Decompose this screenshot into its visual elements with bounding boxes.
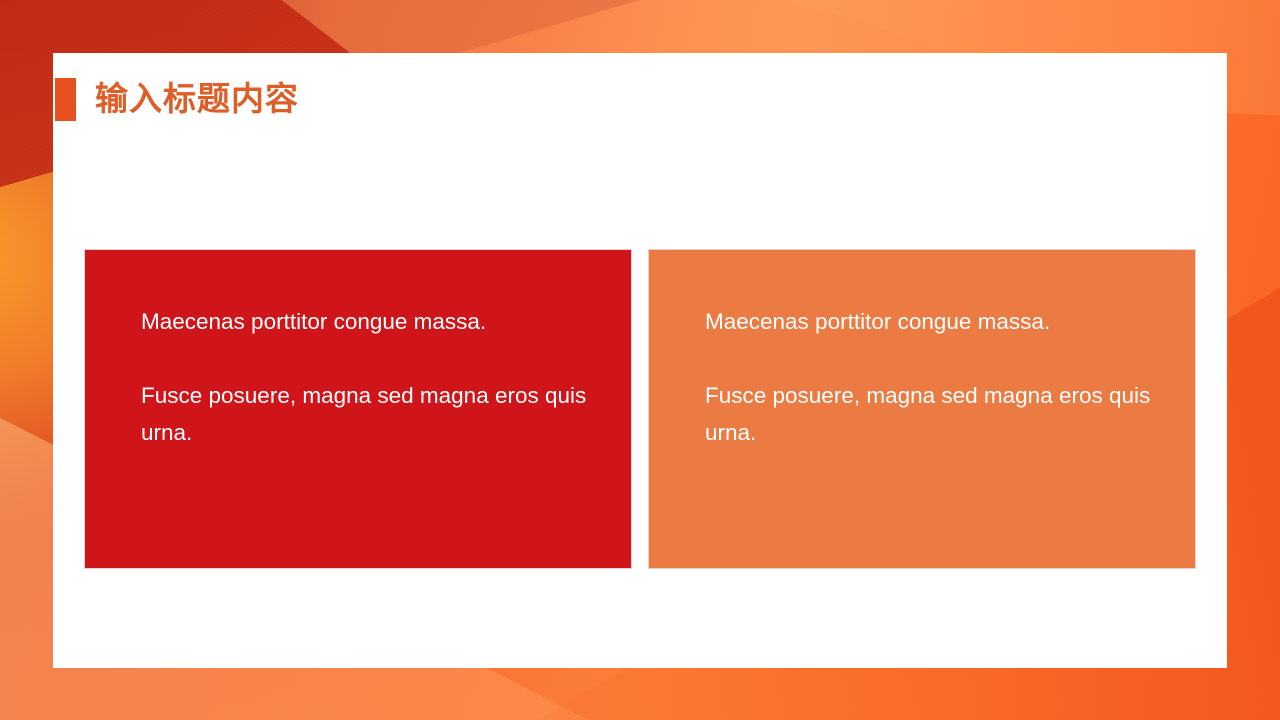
orange-panel-line-2: Fusce posuere, magna sed magna eros quis… <box>705 377 1173 451</box>
red-panel-line-2: Fusce posuere, magna sed magna eros quis… <box>141 377 609 451</box>
orange-panel-body: Maecenas porttitor congue massa. Fusce p… <box>705 303 1173 451</box>
content-panel-group: Maecenas porttitor congue massa. Fusce p… <box>84 249 1196 569</box>
red-content-panel[interactable]: Maecenas porttitor congue massa. Fusce p… <box>84 249 632 569</box>
slide-content-card: 输入标题内容 Maecenas porttitor congue massa. … <box>53 53 1227 668</box>
orange-content-panel[interactable]: Maecenas porttitor congue massa. Fusce p… <box>648 249 1196 569</box>
presentation-slide: 输入标题内容 Maecenas porttitor congue massa. … <box>0 0 1280 720</box>
orange-panel-line-1: Maecenas porttitor congue massa. <box>705 303 1173 340</box>
red-panel-line-1: Maecenas porttitor congue massa. <box>141 303 609 340</box>
page-title: 输入标题内容 <box>95 75 299 123</box>
title-accent-bar <box>55 78 76 121</box>
red-panel-body: Maecenas porttitor congue massa. Fusce p… <box>141 303 609 451</box>
